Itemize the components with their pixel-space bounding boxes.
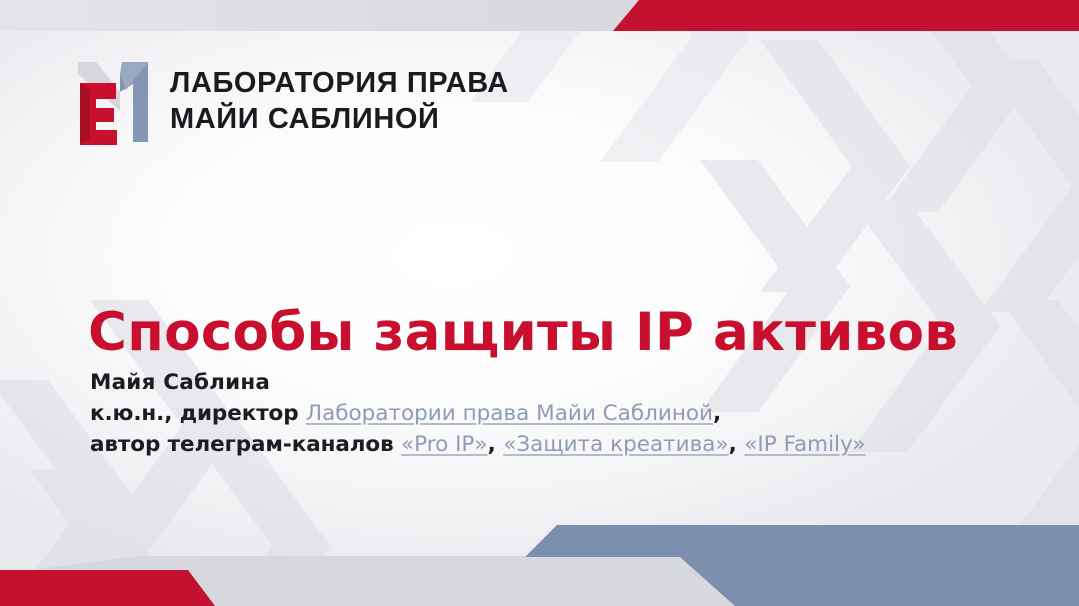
- laboratory-monogram-icon: [76, 56, 150, 148]
- slide-title: Способы защиты IP активов: [88, 304, 958, 361]
- right-blue-nib: [1035, 527, 1079, 543]
- byline-channels-row: автор телеграм-каналов «Pro IP», «Защита…: [90, 429, 866, 460]
- channel-link-zashchita-kreativa[interactable]: «Защита креатива»: [503, 432, 728, 457]
- channel-link-ip-family[interactable]: «IP Family»: [744, 432, 865, 457]
- top-red-band: [600, 0, 1079, 31]
- channel-link-pro-ip[interactable]: «Pro IP»: [401, 432, 488, 457]
- channels-separator-1: ,: [488, 432, 504, 457]
- byline-role-row: к.ю.н., директор Лаборатории права Майи …: [90, 398, 866, 429]
- bottom-blue-band: [525, 525, 1079, 606]
- bottom-red-band: [0, 570, 215, 606]
- channels-prefix: автор телеграм-каналов: [90, 432, 401, 457]
- channels-separator-2: ,: [729, 432, 745, 457]
- top-grey-band: [0, 0, 680, 31]
- speaker-role-prefix: к.ю.н., директор: [90, 401, 306, 426]
- byline-role-suffix: ,: [713, 401, 721, 426]
- brand-logo: ЛАБОРАТОРИЯ ПРАВА МАЙИ САБЛИНОЙ: [76, 56, 509, 148]
- brand-logo-line-2: МАЙИ САБЛИНОЙ: [170, 103, 509, 137]
- brand-logo-text: ЛАБОРАТОРИЯ ПРАВА МАЙИ САБЛИНОЙ: [170, 67, 509, 137]
- byline-name-row: Майя Саблина: [90, 367, 866, 398]
- speaker-byline: Майя Саблина к.ю.н., директор Лаборатори…: [90, 367, 866, 461]
- speaker-name: Майя Саблина: [90, 370, 270, 395]
- brand-logo-line-1: ЛАБОРАТОРИЯ ПРАВА: [170, 67, 509, 101]
- bottom-grey-band: [0, 556, 1079, 606]
- presentation-slide: ЛАБОРАТОРИЯ ПРАВА МАЙИ САБЛИНОЙ Способы …: [0, 0, 1079, 606]
- organization-link[interactable]: Лаборатории права Майи Саблиной: [306, 401, 713, 426]
